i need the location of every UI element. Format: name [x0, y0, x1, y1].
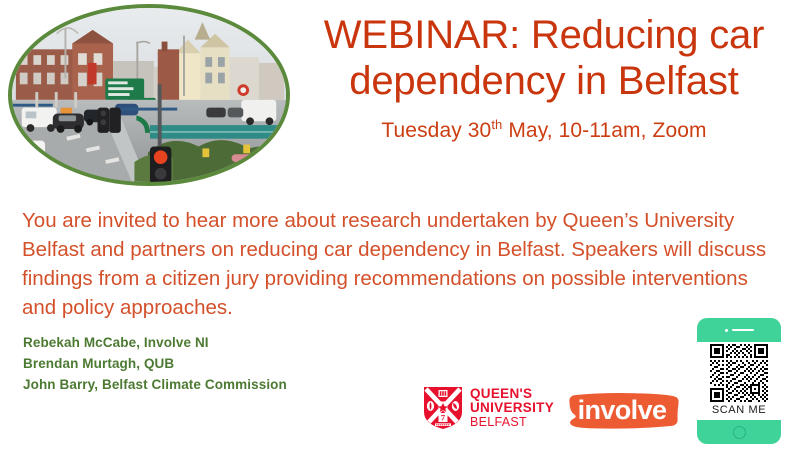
- phone-top-bar: [697, 318, 781, 342]
- involve-banner-shape: involve: [563, 390, 681, 432]
- involve-logo: involve: [563, 390, 681, 432]
- headline-line-2: dependency in Belfast: [349, 59, 738, 103]
- phone-bottom-bar: [697, 420, 781, 444]
- scan-me-label: SCAN ME: [697, 404, 781, 416]
- home-button-icon[interactable]: [733, 426, 746, 439]
- camera-icon: [725, 329, 728, 332]
- qub-wordmark-line-2: UNIVERSITY: [470, 401, 554, 416]
- phone-frame: SCAN ME: [697, 318, 781, 444]
- belfast-street-scene-photo: [12, 8, 286, 182]
- qub-wordmark-line-1: QUEEN'S: [470, 387, 554, 402]
- subtitle-date: Tuesday 30: [381, 119, 491, 142]
- list-item: John Barry, Belfast Climate Commission: [23, 375, 287, 396]
- list-item: Rebekah McCabe, Involve NI: [23, 333, 287, 354]
- subtitle-ordinal: th: [491, 117, 502, 132]
- subtitle-time-platform: May, 10-11am, Zoom: [502, 119, 706, 142]
- qr-code-registration[interactable]: [710, 344, 768, 402]
- event-datetime: Tuesday 30th May, 10-11am, Zoom: [296, 119, 792, 143]
- title-block: WEBINAR: Reducing car dependency in Belf…: [296, 12, 792, 143]
- page-title: WEBINAR: Reducing car dependency in Belf…: [296, 12, 792, 105]
- list-item: Brendan Murtagh, QUB: [23, 354, 287, 375]
- queens-university-belfast-logo: 7 QUEEN'S UNIVERSITY BELFAST: [423, 386, 554, 430]
- qub-wordmark: QUEEN'S UNIVERSITY BELFAST: [470, 387, 554, 430]
- svg-text:7: 7: [441, 414, 445, 423]
- qr-code-area: [697, 342, 781, 404]
- event-description: You are invited to hear more about resea…: [22, 206, 774, 322]
- qub-wordmark-line-3: BELFAST: [470, 416, 554, 430]
- involve-wordmark: involve: [578, 395, 667, 425]
- speaker-slot-icon: [732, 329, 754, 331]
- speaker-list: Rebekah McCabe, Involve NI Brendan Murta…: [23, 333, 287, 396]
- hero-photo-ellipse: [8, 4, 290, 186]
- queens-university-belfast-crest: 7: [423, 386, 463, 430]
- headline-line-1: WEBINAR: Reducing car: [324, 13, 764, 57]
